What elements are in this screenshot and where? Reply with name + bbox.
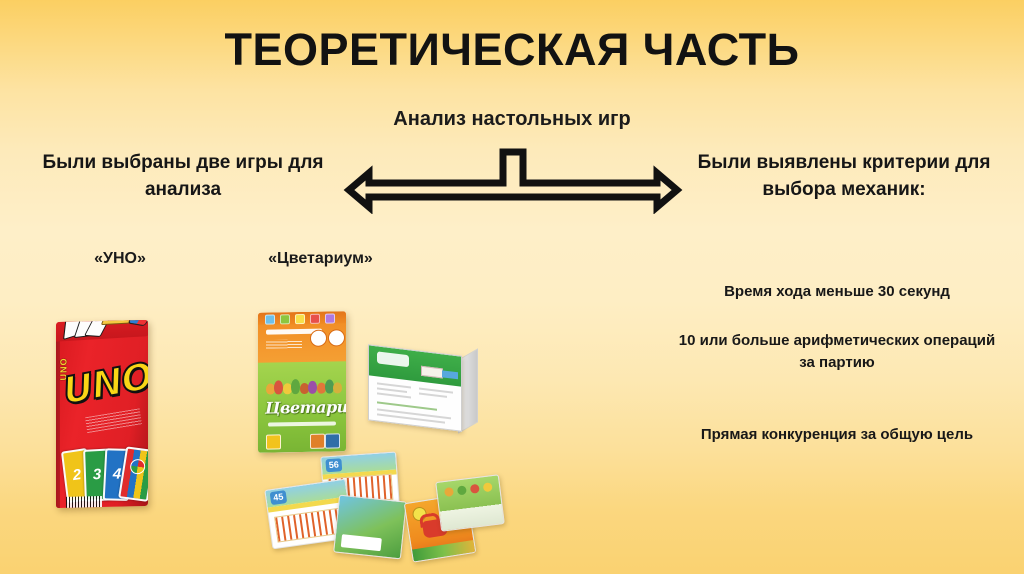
rulebook-header-band — [369, 345, 461, 386]
cvetarium-strip-icon — [265, 314, 275, 324]
left-intro-text: Были выбраны две игры для анализа — [38, 150, 328, 204]
uno-card-game-photo: UNO UNO 2 3 4 — [48, 303, 168, 515]
cvetarium-players-badge — [328, 329, 345, 346]
cvetarium-characters-illustration — [264, 367, 340, 394]
presentation-slide: ТЕОРЕТИЧЕСКАЯ ЧАСТЬ Анализ настольных иг… — [0, 0, 1024, 574]
cvetarium-game-photo: Цветариум — [240, 302, 510, 532]
cvetarium-strip-icon — [280, 314, 290, 324]
cvetarium-vegetable-card — [333, 495, 407, 560]
cvetarium-tagline-bar — [268, 421, 336, 426]
card-white-label — [341, 534, 382, 551]
double-headed-arrow-with-stem-icon — [343, 142, 683, 214]
uno-logo-text: UNO — [59, 352, 144, 417]
cvetarium-strip-icon — [325, 313, 335, 323]
criterion-item: Время хода меньше 30 секунд — [672, 281, 1002, 303]
right-intro-text: Были выявлены критерии для выбора механи… — [690, 150, 998, 204]
cvetarium-logo-text: Цветариум — [265, 397, 339, 417]
uno-box: UNO UNO 2 3 4 — [56, 320, 148, 508]
game-caption-cvetarium: «Цветариум» — [238, 250, 403, 268]
uno-logo: UNO — [59, 352, 144, 417]
uno-wild-color-wheel-icon — [129, 458, 146, 475]
cvetarium-strip-icon — [310, 314, 320, 324]
cvetarium-box: Цветариум — [258, 311, 346, 453]
rulebook-blue-tab — [442, 370, 458, 379]
game-caption-uno: «УНО» — [45, 250, 195, 268]
rulebook-logo — [377, 351, 409, 367]
card-bottom-band — [412, 540, 475, 562]
criterion-item: 10 или больше арифметических операций за… — [672, 330, 1002, 374]
rulebook-front-panel — [368, 344, 462, 432]
card-number-badge: 45 — [270, 490, 288, 505]
page-title: ТЕОРЕТИЧЕСКАЯ ЧАСТЬ — [0, 24, 1024, 76]
cvetarium-rulebook-folded — [368, 350, 480, 430]
cvetarium-age-badge — [310, 330, 327, 347]
uno-box-top-flap — [56, 320, 148, 342]
cvetarium-icon-strip — [258, 311, 346, 325]
cvetarium-corner-chip — [266, 434, 281, 449]
uno-barcode — [66, 496, 102, 508]
cvetarium-box-body: Цветариум — [258, 361, 346, 453]
criterion-item: Прямая конкуренция за общую цель — [672, 424, 1002, 446]
rulebook-stamp — [421, 366, 443, 379]
cvetarium-box-subtitle-lines — [266, 339, 302, 349]
cvetarium-corner-chip — [310, 434, 325, 449]
uno-wild-badge-icon — [127, 320, 148, 326]
cvetarium-card-deck — [435, 474, 505, 531]
center-heading: Анализ настольных игр — [0, 108, 1024, 131]
card-number-badge: 56 — [325, 458, 342, 472]
cvetarium-corner-chip — [325, 433, 340, 448]
cvetarium-strip-icon — [295, 314, 305, 324]
cvetarium-box-top-band — [258, 311, 346, 365]
